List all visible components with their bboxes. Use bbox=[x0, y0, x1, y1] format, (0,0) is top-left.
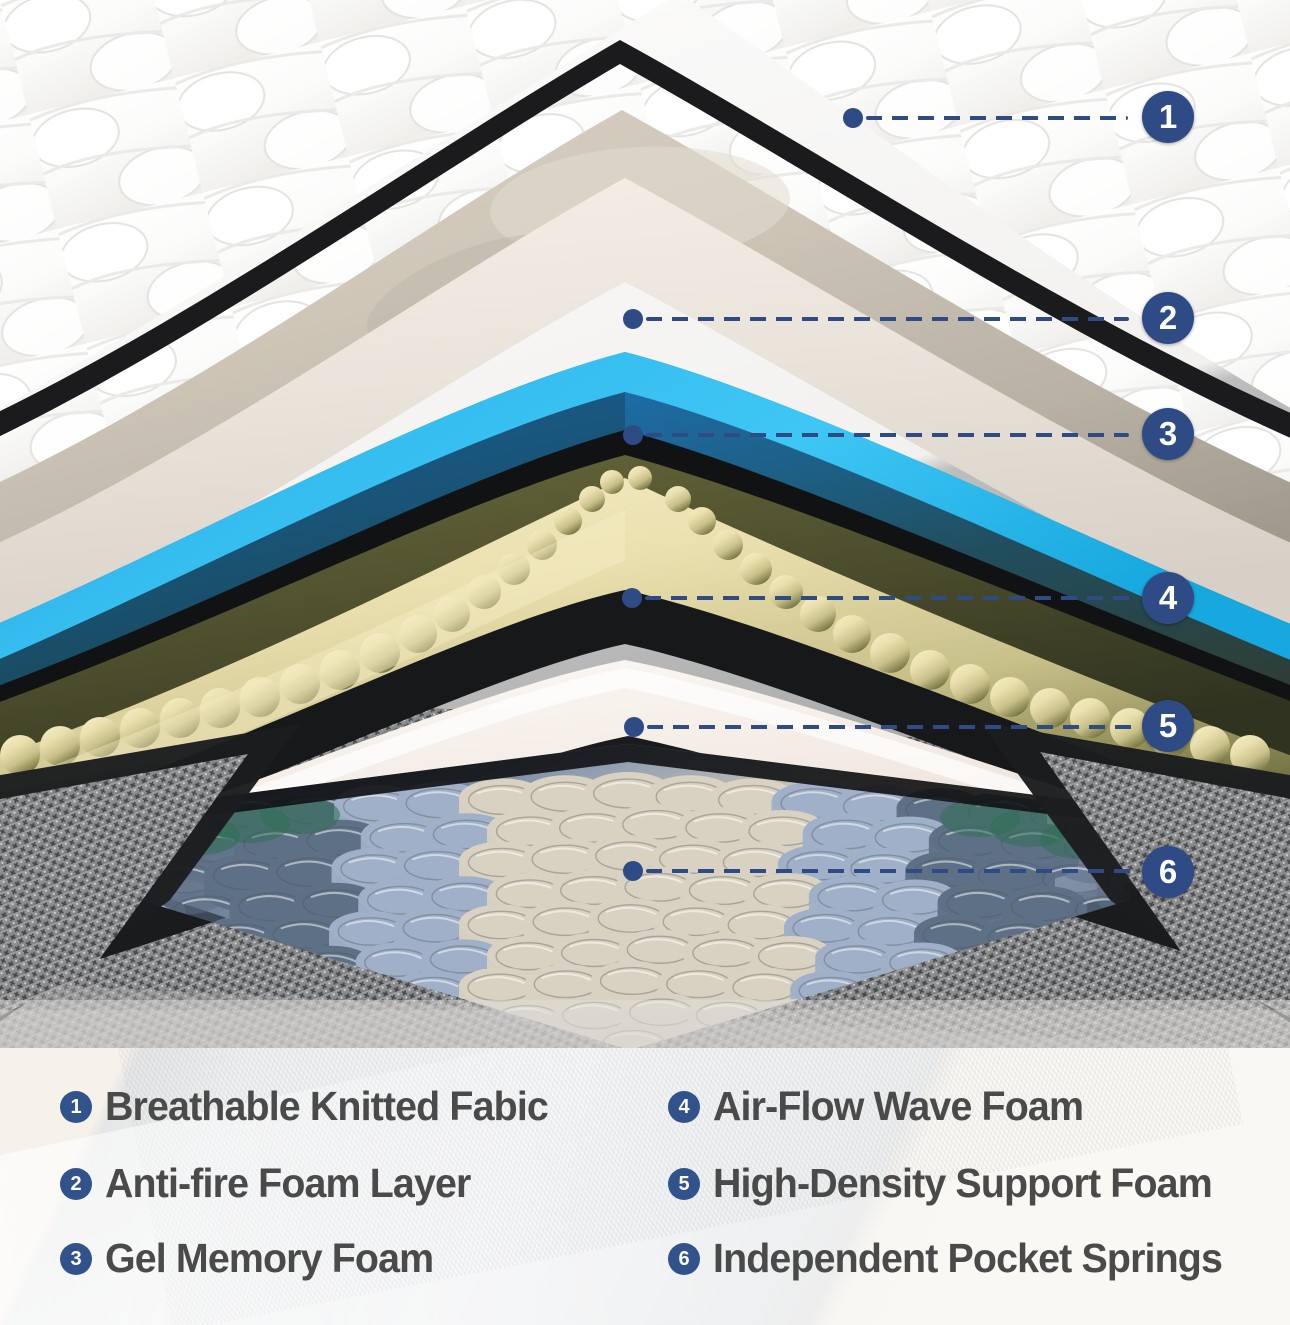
callout-2-leader-line bbox=[646, 317, 1129, 321]
legend-item-1[interactable]: 1 Breathable Knitted Fabic bbox=[60, 1083, 566, 1130]
callout-1-leader-line bbox=[866, 116, 1128, 120]
legend-item-4[interactable]: 4 Air-Flow Wave Foam bbox=[668, 1083, 1099, 1130]
mattress-cutaway-illustration: 1 2 3 4 5 6 bbox=[0, 0, 1290, 1050]
legend-label-2: Anti-fire Foam Layer bbox=[105, 1160, 470, 1207]
mattress-layers-infographic: 1 2 3 4 5 6 1 Breathable Knitted Fabic 2… bbox=[0, 0, 1290, 1325]
legend-item-2[interactable]: 2 Anti-fire Foam Layer bbox=[60, 1160, 486, 1207]
callout-5-dot bbox=[624, 717, 644, 737]
callout-3-badge[interactable]: 3 bbox=[1142, 408, 1194, 460]
legend-label-1: Breathable Knitted Fabic bbox=[105, 1083, 548, 1130]
callout-1-dot bbox=[843, 108, 863, 128]
legend-item-6[interactable]: 6 Independent Pocket Springs bbox=[668, 1235, 1243, 1282]
callout-3-leader-line bbox=[646, 433, 1129, 437]
callout-3-dot bbox=[623, 425, 643, 445]
legend-label-5: High-Density Support Foam bbox=[713, 1160, 1212, 1207]
legend-badge-3: 3 bbox=[60, 1243, 92, 1275]
callout-4-leader-line bbox=[645, 596, 1137, 600]
callout-2-badge[interactable]: 2 bbox=[1142, 292, 1194, 344]
legend-item-5[interactable]: 5 High-Density Support Foam bbox=[668, 1160, 1233, 1207]
legend-label-6: Independent Pocket Springs bbox=[713, 1235, 1222, 1282]
callout-5-badge[interactable]: 5 bbox=[1142, 700, 1194, 752]
callout-6-dot bbox=[623, 861, 643, 881]
legend-label-4: Air-Flow Wave Foam bbox=[713, 1083, 1083, 1130]
callout-4-dot bbox=[622, 588, 642, 608]
callout-2-dot bbox=[623, 309, 643, 329]
callout-4-badge[interactable]: 4 bbox=[1142, 572, 1194, 624]
legend-badge-5: 5 bbox=[668, 1168, 700, 1200]
legend-badge-4: 4 bbox=[668, 1091, 700, 1123]
legend-badge-6: 6 bbox=[668, 1243, 700, 1275]
callout-6-badge[interactable]: 6 bbox=[1142, 846, 1194, 898]
callout-6-leader-line bbox=[646, 869, 1138, 873]
callout-5-leader-line bbox=[647, 725, 1137, 729]
legend-label-3: Gel Memory Foam bbox=[105, 1235, 433, 1282]
legend-badge-2: 2 bbox=[60, 1168, 92, 1200]
callout-1-badge[interactable]: 1 bbox=[1142, 91, 1194, 143]
legend-badge-1: 1 bbox=[60, 1091, 92, 1123]
mattress-cutaway-svg bbox=[0, 0, 1290, 1050]
legend-item-3[interactable]: 3 Gel Memory Foam bbox=[60, 1235, 447, 1282]
